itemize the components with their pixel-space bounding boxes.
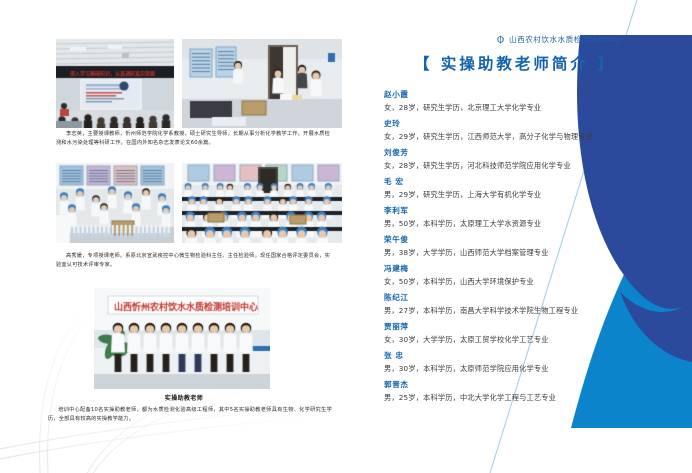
teacher-detail: 女，50岁，本科学历，山西大学环境保护专业 [384, 275, 684, 289]
lab-workshop-wide-photo [182, 163, 342, 243]
teacher-entry: 荣午俊男，38岁，大学学历，山西师范大学档案管理专业 [384, 233, 684, 260]
teacher-detail: 男，50岁，本科学历，太原理工大学水资源专业 [384, 217, 684, 231]
lab-instruction-photo [182, 39, 342, 128]
teacher-name: 郭晋杰 [384, 378, 684, 391]
teacher-detail: 男，29岁，研究生学历，上海大学有机化学专业 [384, 188, 684, 202]
teacher-name: 张 忠 [384, 349, 684, 362]
teacher-name: 陈纪江 [384, 291, 684, 304]
teacher-name: 刘俊芳 [384, 146, 684, 159]
teacher-detail: 女，30岁，大学学历，太原工贸学校化学工艺专业 [384, 333, 684, 347]
brand-name: 山西农村饮水水质检测培训中心 [509, 34, 622, 45]
teacher-entry: 毛 宏男，29岁，研究生学历，上海大学有机化学专业 [384, 175, 684, 202]
profile-column: 山西农村饮水水质检测培训中心 【 实操助教老师简介 】 赵小霞女，28岁，研究生… [368, 0, 692, 473]
teacher-entry: 陈纪江男，27岁，本科学历，南昌大学科学技术学院生物工程专业 [384, 291, 684, 318]
teacher-detail: 男，27岁，本科学历，南昌大学科学技术学院生物工程专业 [384, 304, 684, 318]
teacher-entry: 张 忠男，30岁，本科学历，太原师范学院应用化学专业 [384, 349, 684, 376]
teacher-entry: 刘俊芳女，28岁，研究生学历，河北科技师范学院应用化学专业 [384, 146, 684, 173]
teacher-detail: 男，38岁，大学学历，山西师范大学档案管理专业 [384, 246, 684, 260]
teacher-name: 荣午俊 [384, 233, 684, 246]
photo-row-2 [56, 163, 342, 243]
caption-training-center: 培训中心配备10名实操助教老师，都为水质检测化验高级工程师，其中5名实操助教老师… [48, 406, 332, 424]
teacher-name: 李利军 [384, 204, 684, 217]
photo-row-3 [94, 288, 270, 389]
teacher-roster-list: 赵小霞女，28岁，研究生学历，北京理工大学化学专业史玲女，29岁，研究生学历，江… [384, 88, 684, 407]
caption-li-zhiying: 李志英，主要授课教师，忻州师范学院化学系教授，硕士研究生导师，长期从事分析化学教… [56, 130, 330, 148]
gallery-column: 李志英，主要授课教师，忻州师范学院化学系教授，硕士研究生导师，长期从事分析化学教… [0, 0, 368, 473]
page-title: 【 实操助教老师简介 】 [414, 52, 616, 74]
photo-caption-label: 实操助教老师 [0, 393, 368, 402]
teacher-entry: 李利军男，50岁，本科学历，太原理工大学水资源专业 [384, 204, 684, 231]
brand-line: 山西农村饮水水质检测培训中心 [496, 34, 622, 45]
staff-group-photo [94, 288, 270, 389]
caption-gao-xiuyuan: 高秀媛，专项授课老师。系原北京宣武疾控中心微生物检验科主任、主任检验师。现任国家… [56, 252, 330, 270]
teacher-name: 贾丽萍 [384, 320, 684, 333]
teacher-detail: 女，29岁，研究生学历，江西师范大学，高分子化学与物理专业 [384, 130, 684, 144]
teacher-name: 冯建梅 [384, 262, 684, 275]
teacher-detail: 男，30岁，本科学历，太原师范学院应用化学专业 [384, 362, 684, 376]
teacher-entry: 郭晋杰男，25岁，本科学历，中北大学化学工程与工艺专业 [384, 378, 684, 405]
teacher-entry: 冯建梅女，50岁，本科学历，山西大学环境保护专业 [384, 262, 684, 289]
classroom-lecture-photo [56, 39, 174, 128]
water-drop-emblem-icon [496, 35, 505, 44]
lab-practice-group-photo [56, 163, 174, 243]
teacher-detail: 男，25岁，本科学历，中北大学化学工程与工艺专业 [384, 391, 684, 405]
photo-row-1 [56, 39, 342, 128]
teacher-entry: 贾丽萍女，30岁，大学学历，太原工贸学校化学工艺专业 [384, 320, 684, 347]
teacher-name: 史玲 [384, 117, 684, 130]
teacher-entry: 史玲女，29岁，研究生学历，江西师范大学，高分子化学与物理专业 [384, 117, 684, 144]
teacher-entry: 赵小霞女，28岁，研究生学历，北京理工大学化学专业 [384, 88, 684, 115]
brochure-page: 李志英，主要授课教师，忻州师范学院化学系教授，硕士研究生导师，长期从事分析化学教… [0, 0, 692, 473]
teacher-detail: 女，28岁，研究生学历，北京理工大学化学专业 [384, 101, 684, 115]
teacher-name: 毛 宏 [384, 175, 684, 188]
teacher-detail: 女，28岁，研究生学历，河北科技师范学院应用化学专业 [384, 159, 684, 173]
teacher-name: 赵小霞 [384, 88, 684, 101]
